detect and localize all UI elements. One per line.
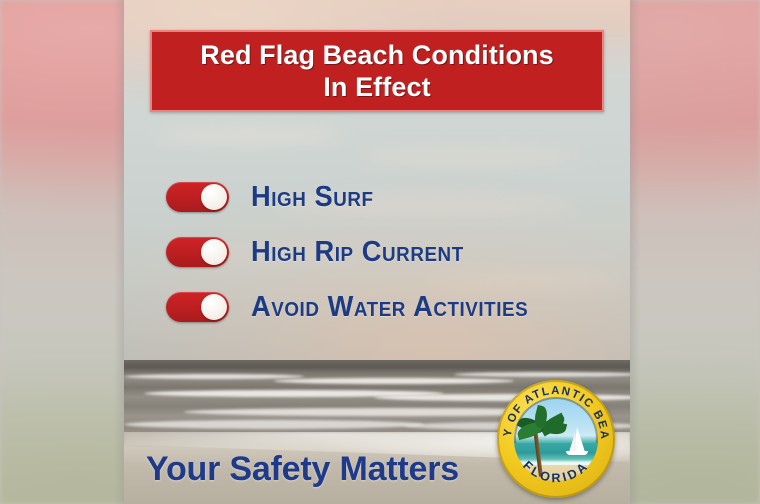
toggle-switch-high-rip-current[interactable] xyxy=(166,237,229,267)
seal-top-text: CITY OF ATLANTIC BEACH xyxy=(497,380,610,441)
title-banner: Red Flag Beach Conditions In Effect xyxy=(150,30,604,112)
cloud-wisp xyxy=(354,150,584,164)
wave-foam xyxy=(274,378,514,384)
screenshot-stage: Red Flag Beach Conditions In Effect High… xyxy=(0,0,760,504)
toggle-knob-icon xyxy=(201,294,227,320)
toggle-knob-icon xyxy=(201,239,227,265)
city-of-atlantic-beach-seal: CITY OF ATLANTIC BEACH FLORIDA xyxy=(497,380,615,498)
condition-row-high-surf: High Surf xyxy=(166,178,596,216)
toggle-knob-icon xyxy=(201,184,227,210)
seal-bottom-text: FLORIDA xyxy=(520,458,592,485)
condition-label-high-surf: High Surf xyxy=(251,182,374,212)
seal-top-textpath: CITY OF ATLANTIC BEACH xyxy=(497,380,610,441)
cloud-wisp xyxy=(154,128,344,144)
wave-foam xyxy=(454,372,630,377)
toggle-switch-high-surf[interactable] xyxy=(166,182,229,212)
toggle-switch-avoid-water-activities[interactable] xyxy=(166,292,229,322)
safety-tagline: Your Safety Matters xyxy=(146,450,459,488)
banner-line-1: Red Flag Beach Conditions xyxy=(200,39,554,71)
condition-label-high-rip-current: High Rip Current xyxy=(251,237,464,267)
wave-foam xyxy=(124,420,424,429)
backdrop-seam-right xyxy=(630,0,640,504)
conditions-list: High Surf High Rip Current Avoid Water A… xyxy=(166,178,596,343)
condition-label-avoid-water-activities: Avoid Water Activities xyxy=(251,292,528,322)
seal-bottom-textpath: FLORIDA xyxy=(520,458,592,485)
beach-safety-poster: Red Flag Beach Conditions In Effect High… xyxy=(124,0,630,504)
backdrop-seam-left xyxy=(114,0,124,504)
banner-line-2: In Effect xyxy=(323,71,430,103)
condition-row-high-rip-current: High Rip Current xyxy=(166,233,596,271)
condition-row-avoid-water-activities: Avoid Water Activities xyxy=(166,288,596,326)
seal-ring-text: CITY OF ATLANTIC BEACH FLORIDA xyxy=(497,380,615,498)
wave-foam xyxy=(124,374,304,379)
